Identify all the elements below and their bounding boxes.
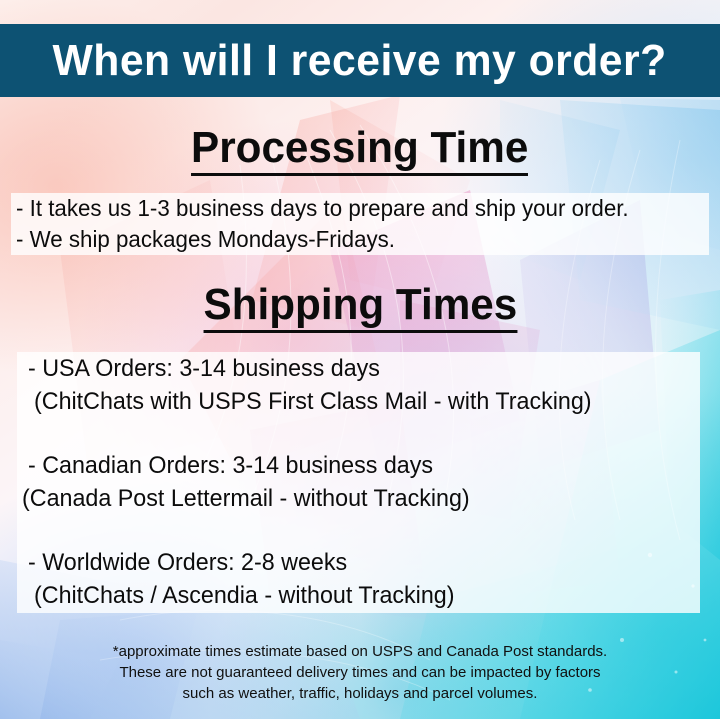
section-heading-shipping-times-label: Shipping Times xyxy=(203,283,517,333)
shipping-entry-usa-primary: - USA Orders: 3-14 business days xyxy=(28,357,380,381)
footer-disclaimer-line-2: These are not guaranteed delivery times … xyxy=(0,662,720,683)
section-heading-shipping-times: Shipping Times xyxy=(0,283,720,333)
shipping-entry-worldwide-primary: - Worldwide Orders: 2-8 weeks xyxy=(28,551,347,575)
page-title: When will I receive my order? xyxy=(53,39,667,83)
faq-poster: When will I receive my order? Processing… xyxy=(0,0,720,719)
shipping-entry-usa-secondary: (ChitChats with USPS First Class Mail - … xyxy=(34,390,592,414)
shipping-entry-canada-primary: - Canadian Orders: 3-14 business days xyxy=(28,454,433,478)
processing-time-line-2: - We ship packages Mondays-Fridays. xyxy=(16,228,395,251)
footer-disclaimer-line-1: *approximate times estimate based on USP… xyxy=(0,641,720,662)
header-band: When will I receive my order? xyxy=(0,24,720,97)
section-heading-processing-time: Processing Time xyxy=(0,126,720,176)
shipping-entry-canada-secondary: (Canada Post Lettermail - without Tracki… xyxy=(22,487,470,511)
footer-disclaimer: *approximate times estimate based on USP… xyxy=(0,641,720,704)
processing-time-line-1: - It takes us 1-3 business days to prepa… xyxy=(16,197,629,220)
footer-disclaimer-line-3: such as weather, traffic, holidays and p… xyxy=(0,683,720,704)
section-heading-processing-time-label: Processing Time xyxy=(191,126,528,176)
shipping-entry-worldwide-secondary: (ChitChats / Ascendia - without Tracking… xyxy=(34,584,455,608)
